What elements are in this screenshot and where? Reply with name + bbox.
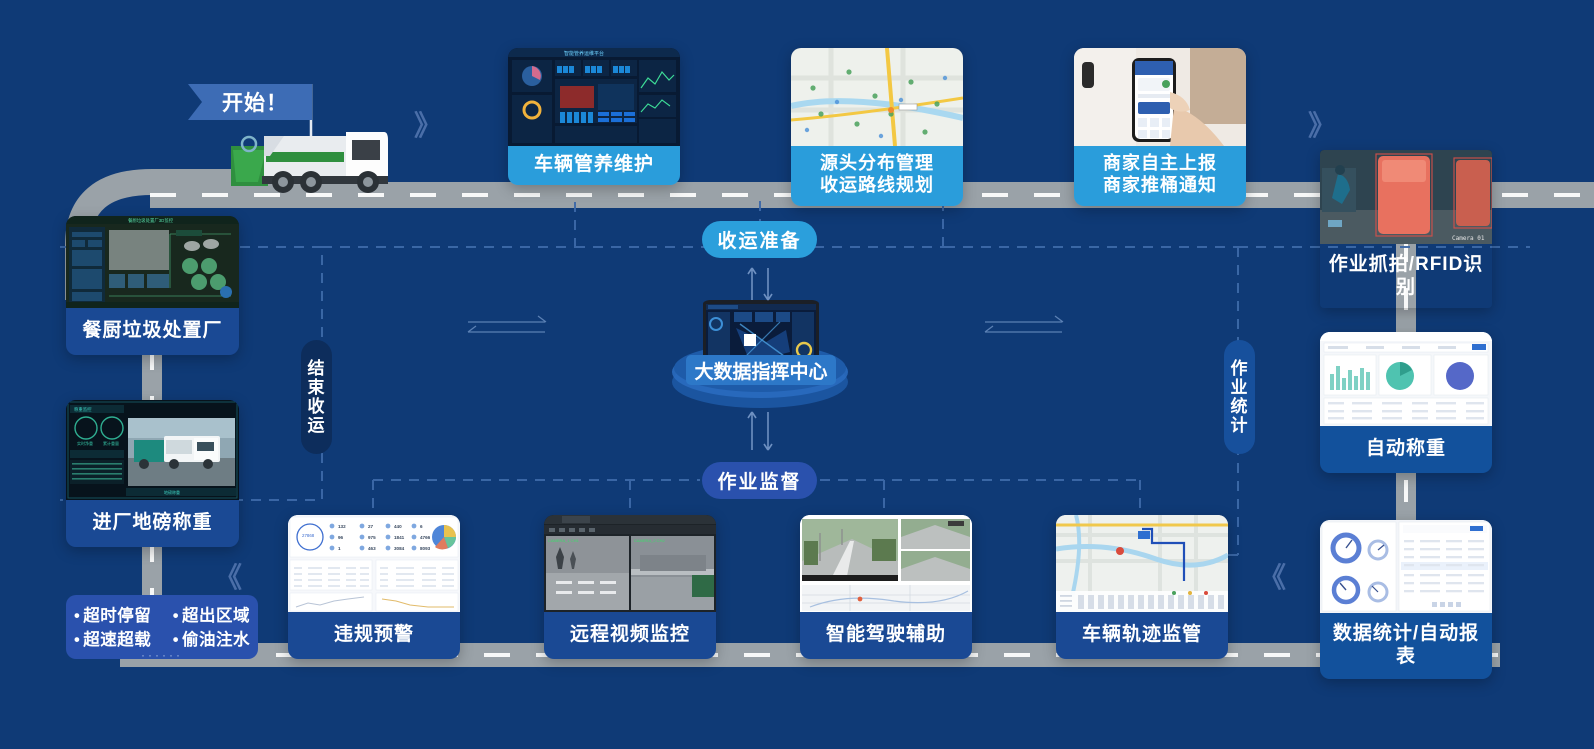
start-flag-label: 开始！ (188, 84, 312, 120)
card-data-report[interactable]: 数据统计/自动报表 (1320, 520, 1492, 679)
chevron-left-1: 《 (214, 556, 242, 596)
card-smart-driving[interactable]: 智能驾驶辅助 (800, 515, 972, 659)
weighbridge-screenshot: 称重监控 实时净重 累计重量 地磅称重 (66, 400, 239, 500)
card-weighbridge[interactable]: 称重监控 实时净重 累计重量 地磅称重 (66, 400, 239, 547)
rfid-capture-screenshot: Camera 01 (1320, 150, 1492, 244)
card-kitchen-waste-plant[interactable]: 餐厨垃圾处置厂3D监控 餐厨垃圾处置厂 (66, 216, 239, 355)
end-collection-char-1: 结 (308, 359, 326, 378)
pill-collection-prep[interactable]: 收运准备 (702, 221, 817, 258)
vehicle-management-dashboard-screenshot: 智能管养运维平台 (508, 48, 680, 146)
card-vehicle-maintenance-label: 车辆管养维护 (508, 146, 680, 185)
card-auto-weighing-label: 自动称重 (1320, 426, 1492, 473)
pill-operation-supervision[interactable]: 作业监督 (702, 462, 817, 499)
card-vehicle-track-label: 车辆轨迹监管 (1056, 612, 1228, 659)
card-remote-video-label: 远程视频监控 (544, 612, 716, 659)
card-rfid-capture-label: 作业抓拍/RFID识别 (1320, 244, 1492, 308)
violation-row-1: 超时停留 超出区域 (74, 602, 250, 626)
command-center-label: 大数据指挥中心 (686, 355, 836, 385)
plant-scada-screenshot: 餐厨垃圾处置厂3D监控 (66, 216, 239, 308)
violation-dashboard-screenshot: 27868 132961 27975463 44018413084 647668… (288, 515, 460, 612)
report-gauges-screenshot (1320, 520, 1492, 613)
operation-stats-char-1: 作 (1231, 359, 1249, 378)
svg-text:8093: 8093 (420, 546, 431, 551)
adas-screenshot (800, 515, 972, 612)
end-collection-char-2: 束 (308, 378, 326, 397)
card-data-report-label: 数据统计/自动报表 (1320, 613, 1492, 679)
card-rfid-capture[interactable]: Camera 01 作业抓拍/RFID识别 (1320, 150, 1492, 308)
card-auto-weighing[interactable]: 自动称重 (1320, 332, 1492, 473)
svg-text:6: 6 (420, 524, 423, 529)
violation-item-0: 超时停留 (74, 602, 151, 626)
city-map-screenshot (791, 48, 963, 146)
chevron-left-2: 《 (1258, 556, 1286, 596)
violation-item-1: 超出区域 (173, 602, 250, 626)
card-violation-alert[interactable]: 27868 132961 27975463 44018413084 647668… (288, 515, 460, 659)
svg-text:1: 1 (338, 546, 341, 551)
svg-text:Camera 01: Camera 01 (1452, 235, 1485, 242)
card-merchant-report[interactable]: 商家自主上报 商家推桶通知 (1074, 48, 1246, 206)
svg-text:餐厨垃圾处置厂3D监控: 餐厨垃圾处置厂3D监控 (128, 217, 174, 224)
svg-text:地磅称重: 地磅称重 (164, 489, 180, 495)
card-source-distribution[interactable]: 源头分布管理 收运路线规划 (791, 48, 963, 206)
svg-text:27: 27 (368, 524, 374, 529)
weighing-dashboard-screenshot (1320, 332, 1492, 426)
card-vehicle-maintenance[interactable]: 智能管养运维平台 车辆管养维护 (508, 48, 680, 185)
svg-text:累计重量: 累计重量 (103, 440, 119, 446)
svg-text:96: 96 (338, 535, 344, 540)
card-vehicle-track[interactable]: 车辆轨迹监管 (1056, 515, 1228, 659)
card-smart-driving-label: 智能驾驶辅助 (800, 612, 972, 659)
phone-app-photo (1074, 48, 1246, 146)
svg-text:CAMERA_1 CH1: CAMERA_1 CH1 (548, 538, 579, 543)
track-map-screenshot (1056, 515, 1228, 612)
violation-more-dots: ······ (74, 648, 250, 662)
svg-text:975: 975 (368, 535, 376, 540)
svg-text:3084: 3084 (394, 546, 405, 551)
operation-stats-char-4: 计 (1231, 416, 1249, 435)
svg-text:27868: 27868 (302, 533, 315, 538)
chevron-right-2: 》 (1308, 104, 1336, 144)
svg-text:440: 440 (394, 524, 402, 529)
end-collection-char-3: 收 (308, 397, 326, 416)
svg-text:132: 132 (338, 524, 346, 529)
svg-text:1841: 1841 (394, 535, 405, 540)
svg-text:CAMERA_2 CH2: CAMERA_2 CH2 (634, 538, 665, 543)
infographic-canvas: 开始！ 智能管 (0, 0, 1594, 749)
svg-text:智能管养运维平台: 智能管养运维平台 (564, 50, 604, 57)
violation-item-3: 偷油注水 (173, 626, 250, 650)
card-violation-alert-label: 违规预警 (288, 612, 460, 659)
operation-stats-char-3: 统 (1231, 397, 1249, 416)
svg-text:实时净重: 实时净重 (77, 440, 93, 446)
svg-text:称重监控: 称重监控 (74, 406, 92, 413)
label-end-collection: 结 束 收 运 (301, 340, 332, 454)
end-collection-char-4: 运 (308, 416, 326, 435)
label-operation-stats: 作 业 统 计 (1224, 340, 1255, 454)
card-source-distribution-label: 源头分布管理 收运路线规划 (791, 146, 963, 206)
chevron-right-1: 》 (414, 104, 442, 144)
violation-item-2: 超速超载 (74, 626, 151, 650)
svg-text:463: 463 (368, 546, 376, 551)
violation-row-2: 超速超载 偷油注水 (74, 626, 250, 650)
operation-stats-char-2: 业 (1231, 378, 1249, 397)
card-kitchen-waste-plant-label: 餐厨垃圾处置厂 (66, 308, 239, 355)
start-flag: 开始！ (188, 84, 312, 120)
card-merchant-report-label: 商家自主上报 商家推桶通知 (1074, 146, 1246, 206)
svg-text:4766: 4766 (420, 535, 431, 540)
card-remote-video[interactable]: CAMERA_1 CH1CAMERA_2 CH2 远程视频监控 (544, 515, 716, 659)
violation-types-box: 超时停留 超出区域 超速超载 偷油注水 ······ (66, 595, 258, 659)
remote-video-screenshot: CAMERA_1 CH1CAMERA_2 CH2 (544, 515, 716, 612)
card-weighbridge-label: 进厂地磅称重 (66, 500, 239, 547)
